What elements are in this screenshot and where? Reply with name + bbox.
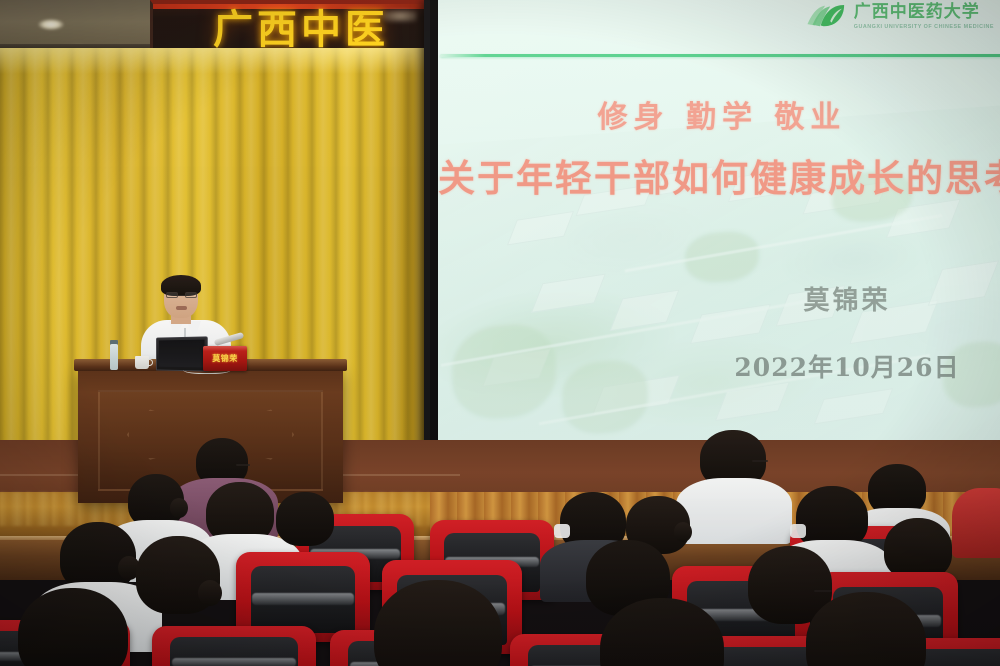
person-head [18,588,128,666]
hair-bun [674,522,692,542]
audience-member [136,536,220,614]
audience-member [18,588,128,666]
logo-english-name: GUANGXI UNIVERSITY OF CHINESE MEDICINE [854,25,994,30]
ceiling-light-icon [38,19,64,30]
hair-bun [170,498,188,518]
speaker-mouth [176,306,187,310]
green-leaf-logo-icon [806,3,850,29]
led-glare [383,10,417,22]
nameplate: 莫锦荣 [203,346,247,371]
slide-divider-line [440,54,1000,57]
nameplate-highlight [203,346,247,351]
audience-member [374,580,502,666]
person-head [276,492,334,546]
led-banner-text: 广西中医 [213,10,389,50]
slide-presenter-name: 莫锦荣 [438,280,1000,317]
eyeglasses-icon [166,292,197,298]
university-logo: 广西中医药大学 GUANGXI UNIVERSITY OF CHINESE ME… [806,3,994,30]
curtain-top-glow [0,48,430,74]
water-bottle [110,344,118,370]
person-shoulders [952,488,1000,558]
projection-screen-frame: 广西中医药大学 GUANGXI UNIVERSITY OF CHINESE ME… [424,0,1000,492]
person-head [884,518,952,580]
audience-member [600,598,724,666]
person-head [806,592,926,666]
auditorium-seat[interactable] [152,626,316,666]
slide-date: 2022年10月26日 [438,348,1000,384]
audience-area [0,430,1000,666]
hair-bun [198,580,222,606]
person-head [374,580,502,666]
logo-text-block: 广西中医药大学 GUANGXI UNIVERSITY OF CHINESE ME… [854,3,994,30]
led-banner: 广西中医 [150,0,435,50]
person-shoulders [676,478,792,544]
slide-subtitle: 关于年轻干部如何健康成长的思考 [438,148,1000,202]
face-mask-icon [554,524,570,538]
coffee-mug [135,356,149,369]
logo-chinese-name: 广西中医药大学 [854,4,994,21]
lecture-hall-photo: 广西中医 [0,0,1000,666]
eyeglasses-icon [236,464,250,466]
projection-screen: 广西中医药大学 GUANGXI UNIVERSITY OF CHINESE ME… [438,0,1000,482]
audience-member [884,518,952,580]
face-mask-icon [790,524,806,538]
slide-title: 修身 勤学 敬业 [438,92,1000,136]
audience-member [276,492,334,546]
nameplate-text: 莫锦荣 [212,353,238,364]
audience-member [806,592,926,666]
person-head [600,598,724,666]
eyeglasses-icon [752,460,768,462]
